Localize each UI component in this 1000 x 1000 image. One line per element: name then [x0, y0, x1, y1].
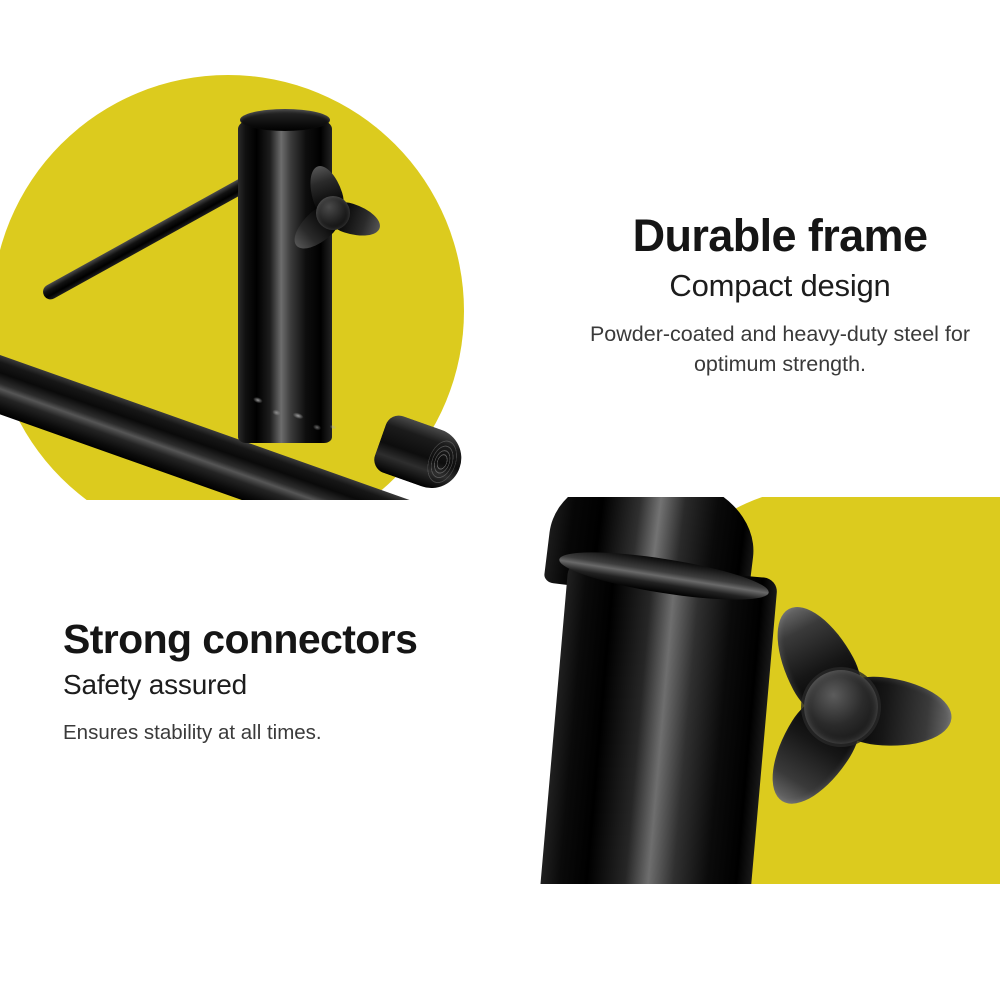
- feature-body-text: Powder-coated and heavy-duty steel for o…: [560, 320, 1000, 379]
- feature-subheading: Safety assured: [63, 669, 513, 701]
- tightening-knob-icon: [287, 165, 379, 261]
- feature-heading: Strong connectors: [63, 618, 513, 661]
- knob-hub: [804, 670, 878, 744]
- feature-heading: Durable frame: [560, 212, 1000, 259]
- knob-hub: [316, 196, 350, 230]
- feature-body-text: Ensures stability at all times.: [63, 719, 513, 747]
- product-feature-collage: Durable frame Compact design Powder-coat…: [0, 0, 1000, 1000]
- knob-photo-panel: [540, 497, 1000, 884]
- frame-photo-panel: [0, 0, 520, 500]
- feature-subheading: Compact design: [560, 268, 1000, 304]
- tightening-knob-icon: [736, 597, 946, 817]
- feature-text-durable-frame: Durable frame Compact design Powder-coat…: [560, 212, 1000, 379]
- feature-text-strong-connectors: Strong connectors Safety assured Ensures…: [63, 618, 513, 748]
